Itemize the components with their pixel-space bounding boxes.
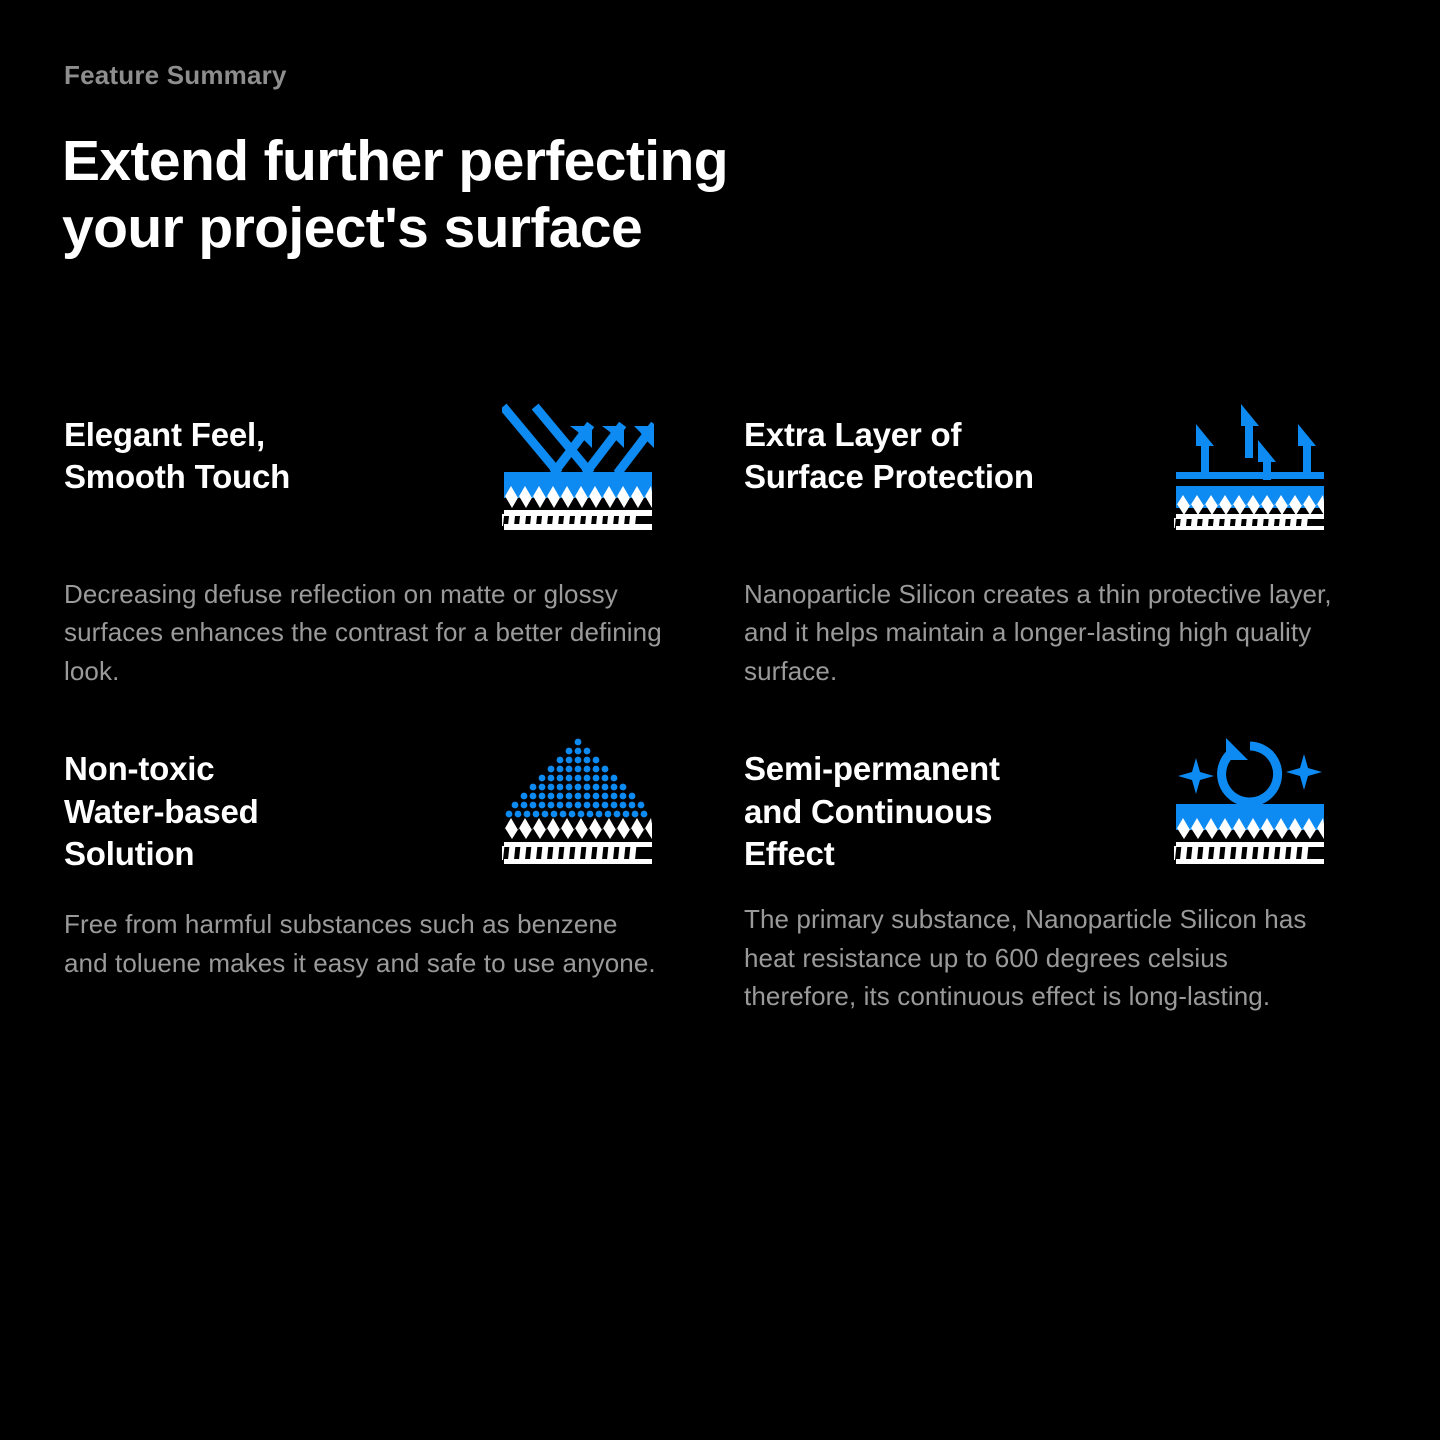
feature-card-extra-layer: Extra Layer of Surface Protection <box>672 400 1344 690</box>
feature-card-semi-permanent: Semi-permanent and Continuous Effect <box>672 734 1344 1015</box>
feature-title: Elegant Feel, Smooth Touch <box>64 400 502 498</box>
feature-title: Non-toxic Water-based Solution <box>64 734 502 875</box>
feature-description: Decreasing defuse reflection on matte or… <box>64 575 666 690</box>
feature-row: Non-toxic Water-based Solution <box>0 734 1440 1015</box>
sparkle-icon <box>1178 754 1322 794</box>
feature-card-non-toxic: Non-toxic Water-based Solution <box>0 734 672 1015</box>
feature-description: Nanoparticle Silicon creates a thin prot… <box>744 575 1338 690</box>
feature-summary-page: Feature Summary Extend further perfectin… <box>0 0 1440 1440</box>
continuous-effect-icon <box>1174 734 1334 864</box>
feature-description: Free from harmful substances such as ben… <box>64 905 666 982</box>
feature-grid: Elegant Feel, Smooth Touch <box>0 400 1440 1016</box>
nanoparticle-pyramid-icon <box>502 734 662 864</box>
feature-title: Extra Layer of Surface Protection <box>744 400 1174 498</box>
feature-row: Elegant Feel, Smooth Touch <box>0 400 1440 690</box>
feature-title: Semi-permanent and Continuous Effect <box>744 734 1174 875</box>
refresh-loop-icon <box>1222 738 1278 802</box>
feature-description: The primary substance, Nanoparticle Sili… <box>744 900 1338 1015</box>
protective-layer-icon <box>1174 400 1334 530</box>
reflection-surface-icon <box>502 400 662 530</box>
feature-card-elegant-feel: Elegant Feel, Smooth Touch <box>0 400 672 690</box>
section-eyebrow-label: Feature Summary <box>64 62 287 88</box>
page-title: Extend further perfecting your project's… <box>62 128 728 263</box>
